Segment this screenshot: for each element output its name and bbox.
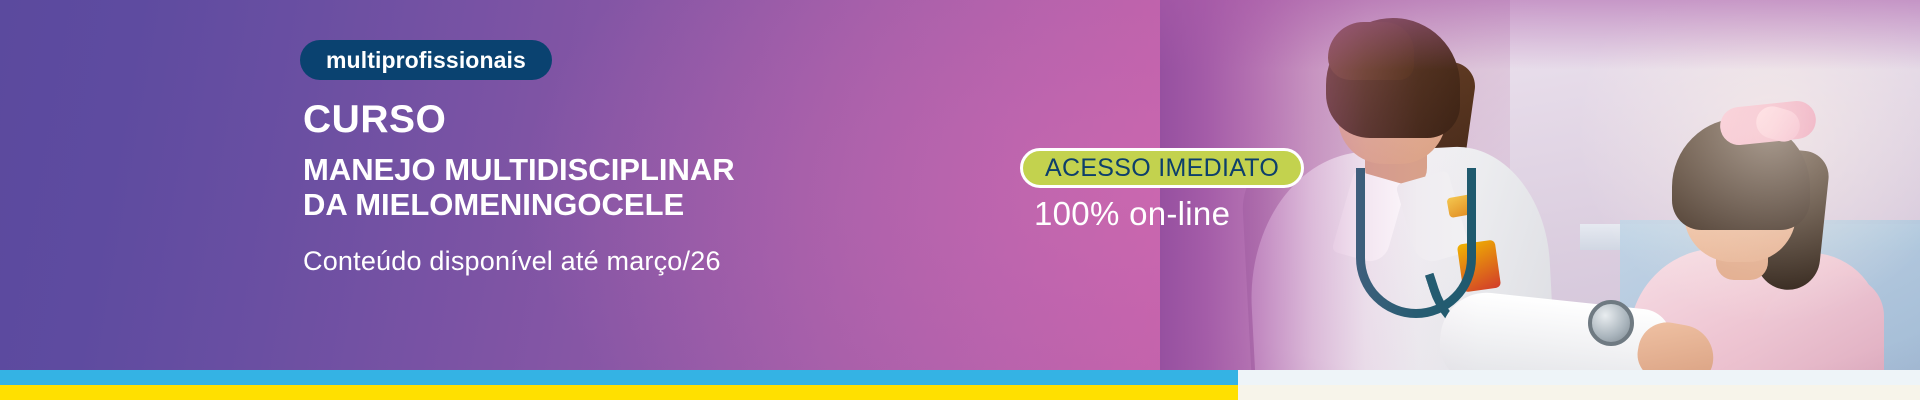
immediate-access-button[interactable]: ACESSO IMEDIATO [1020, 148, 1304, 188]
stripe-blue [0, 370, 1920, 385]
audience-badge: multiprofissionais [300, 40, 552, 80]
course-title-line-1: MANEJO MULTIDISCIPLINAR [303, 152, 735, 188]
stripe-yellow [0, 385, 1920, 400]
stripe-yellow-light [1238, 385, 1920, 400]
stripe-blue-light [1238, 370, 1920, 385]
stripe-yellow-colored [0, 385, 1238, 400]
online-format-label: 100% on-line [1034, 195, 1230, 233]
availability-subtitle: Conteúdo disponível até março/26 [303, 246, 721, 277]
immediate-access-label: ACESSO IMEDIATO [1045, 154, 1279, 183]
stripe-blue-colored [0, 370, 1238, 385]
cta-column: ACESSO IMEDIATO 100% on-line [1020, 0, 1320, 370]
banner-text-block: multiprofissionais CURSO MANEJO MULTIDIS… [300, 0, 1020, 370]
course-kicker: CURSO [303, 100, 446, 139]
course-promo-banner: multiprofissionais CURSO MANEJO MULTIDIS… [0, 0, 1920, 400]
course-title-line-2: DA MIELOMENINGOCELE [303, 187, 684, 223]
audience-badge-label: multiprofissionais [326, 47, 526, 74]
bottom-color-stripes [0, 370, 1920, 400]
